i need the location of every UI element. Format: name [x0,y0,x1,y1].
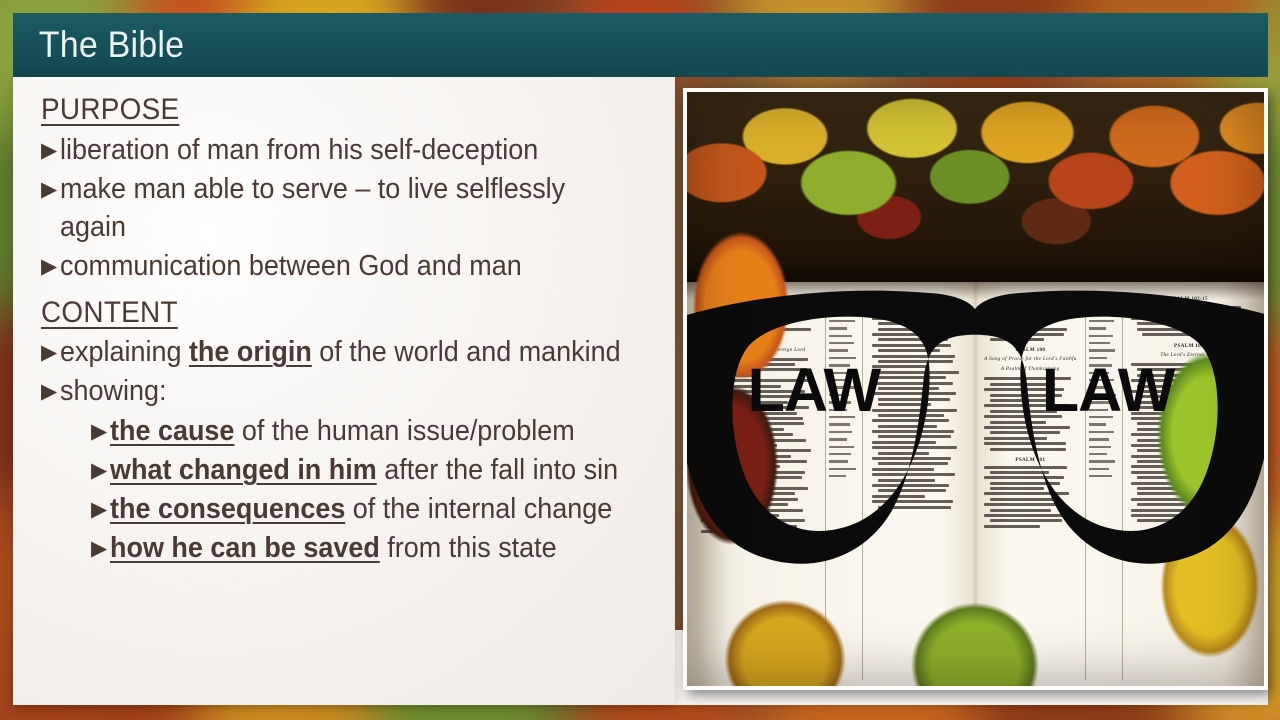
lens-text-right: LAW [1042,355,1175,425]
bullet-suffix: after the fall into sin [377,454,618,486]
page-number-left: 526 [872,296,964,302]
bullet-suffix: of the world and mankind [312,336,621,368]
bullet-text: liberation of man from his self-deceptio… [60,131,626,169]
bullet-suffix: of the human issue/problem [235,415,575,447]
triangle-bullet-icon: ▶ [41,179,57,200]
triangle-bullet-icon: ▶ [41,381,57,402]
triangle-bullet-icon: ▶ [91,421,107,442]
bullet-suffix: of the internal change [345,493,612,525]
bullet-the-cause: ▶ the cause of the human issue/problem [41,412,669,450]
bullet-what-changed: ▶ what changed in him after the fall int… [41,451,669,489]
psalm-heading: PSALM 100 [984,347,1076,353]
bullet-text: what changed in him after the fall into … [110,451,630,489]
bullet-consequences: ▶ the consequences of the internal chang… [41,490,669,528]
bullet-communication: ▶ communication between God and man [41,247,669,285]
bullet-serve: ▶ make man able to serve – to live selfl… [41,170,669,247]
page-number-right: 527 [984,296,1076,302]
psalm-subtitle: A Song of Praise to the Sovereign Lord [701,347,816,353]
bullet-how-saved: ▶ how he can be saved from this state [41,529,669,567]
bullet-liberation: ▶ liberation of man from his self-decept… [41,131,669,169]
bible-glasses-photo: PSALM 96:13 PSALM 97 A Song of Praise to… [687,92,1264,686]
bullet-prefix: explaining [60,336,189,368]
bullet-text: showing: [60,372,626,410]
psalm-heading: PSALM 102 [1131,343,1246,349]
triangle-bullet-icon: ▶ [91,460,107,481]
running-head-right: PSALM 102:15 [1131,296,1246,302]
triangle-bullet-icon: ▶ [41,342,57,363]
bullet-text: the cause of the human issue/problem [110,412,630,450]
section-heading-content: CONTENT [41,294,625,332]
page-title: The Bible [13,24,184,66]
slide-title-bar: The Bible [13,13,1268,77]
bullet-text: communication between God and man [60,247,626,285]
section-heading-purpose: PURPOSE [41,91,625,129]
content-panel: PURPOSE ▶ liberation of man from his sel… [13,77,675,705]
running-head-left: PSALM 96:13 [701,296,816,302]
triangle-bullet-icon: ▶ [91,538,107,559]
lens-text-left: LAW [748,355,881,425]
section-gap [41,287,669,294]
ref-col-head: PSALM 98 [829,296,859,301]
bullet-text: explaining the origin of the world and m… [60,333,626,371]
bullet-suffix: from this state [380,532,557,564]
bullet-text: how he can be saved from this state [110,529,630,567]
triangle-bullet-icon: ▶ [41,256,57,277]
slide-photo-frame: PSALM 96:13 PSALM 97 A Song of Praise to… [683,88,1268,690]
triangle-bullet-icon: ▶ [91,499,107,520]
bible-column-left-2: 526 [872,296,964,680]
psalm-heading: PSALM 101 [984,457,1076,463]
ref-col-head: PSALM 102 [1089,296,1119,301]
autumn-leaves-backdrop [687,92,1264,294]
psalm-heading: PSALM 97 [701,338,816,344]
bullet-emphasis: what changed in him [110,454,377,486]
bullet-showing: ▶ showing: [41,372,669,410]
bullet-text: the consequences of the internal change [110,490,630,528]
bullet-explaining-origin: ▶ explaining the origin of the world and… [41,333,669,371]
bullet-emphasis: the consequences [110,493,345,525]
bullet-emphasis: the cause [110,415,234,447]
bible-text-lines [872,306,964,508]
bullet-emphasis: the origin [189,336,312,368]
bullet-text: make man able to serve – to live selfles… [60,170,626,247]
open-bible-page: PSALM 96:13 PSALM 97 A Song of Praise to… [687,282,1264,686]
bullet-emphasis: how he can be saved [110,532,380,564]
triangle-bullet-icon: ▶ [41,140,57,161]
